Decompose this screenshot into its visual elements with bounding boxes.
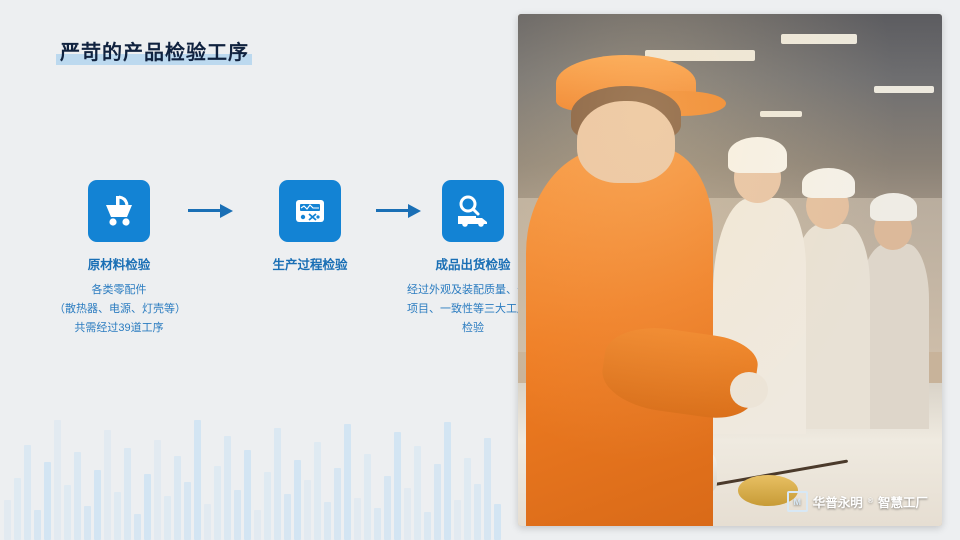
decorative-bar [344, 424, 351, 540]
brand-logo-icon: M [787, 491, 808, 512]
flow-step-1-label: 原材料检验 [54, 254, 184, 273]
flow-step-1-desc-line-1: 各类零配件 [54, 281, 184, 300]
decorative-bar [34, 510, 41, 540]
decorative-bar [174, 456, 181, 540]
decorative-bar [44, 462, 51, 540]
decorative-bar [334, 468, 341, 540]
decorative-bar [194, 420, 201, 540]
decorative-bar [84, 506, 91, 540]
mining-cart-icon [88, 180, 150, 242]
decorative-bar [384, 476, 391, 540]
decorative-bar [4, 500, 11, 540]
decorative-bar [274, 428, 281, 540]
decorative-bar [54, 420, 61, 540]
decorative-bar [154, 440, 161, 540]
truck-inspection-icon [442, 180, 504, 242]
decorative-bar [64, 485, 71, 540]
decorative-bar [264, 472, 271, 540]
decorative-bar [284, 494, 291, 540]
decorative-bar [244, 450, 251, 540]
flow-step-2[interactable]: 生产过程检验 [248, 180, 372, 273]
brand-watermark: M 华普永明®智慧工厂 [787, 491, 928, 512]
decorative-bar [294, 460, 301, 540]
decorative-bar [364, 454, 371, 540]
flow-step-1[interactable]: 原材料检验 各类零配件 （散热器、电源、灯壳等） 共需经过39道工序 [54, 180, 184, 338]
decorative-bar [414, 446, 421, 540]
decorative-bar [94, 470, 101, 540]
decorative-bar [204, 504, 211, 540]
decorative-bar [454, 500, 461, 540]
flow-arrow-1 [188, 204, 234, 218]
page-title: 严苛的产品检验工序 [56, 36, 253, 65]
decorative-bar [214, 466, 221, 540]
decorative-bar [74, 452, 81, 540]
decorative-bar [224, 436, 231, 540]
decorative-bar [434, 464, 441, 540]
brand-suffix: 智慧工厂 [878, 492, 928, 511]
decorative-bar-pattern [0, 390, 520, 540]
decorative-bar [134, 514, 141, 540]
decorative-bar [14, 478, 21, 540]
decorative-bar [314, 442, 321, 540]
decorative-bar [484, 438, 491, 540]
decorative-bar [354, 498, 361, 540]
decorative-bar [324, 502, 331, 540]
flow-step-1-desc: 各类零配件 （散热器、电源、灯壳等） 共需经过39道工序 [54, 281, 184, 338]
flow-step-1-desc-line-3: 共需经过39道工序 [54, 319, 184, 338]
decorative-bar [144, 474, 151, 540]
decorative-bar [114, 492, 121, 540]
decorative-bar [234, 490, 241, 540]
photo-light-tint [518, 14, 942, 526]
decorative-bar [304, 480, 311, 540]
factory-inspection-photo: M 华普永明®智慧工厂 [518, 14, 942, 526]
decorative-bar [424, 512, 431, 540]
decorative-bar [464, 458, 471, 540]
decorative-bar [404, 488, 411, 540]
decorative-bar [474, 484, 481, 540]
decorative-bar [254, 510, 261, 540]
decorative-bar [124, 448, 131, 540]
decorative-bar [184, 482, 191, 540]
flow-step-1-desc-line-2: （散热器、电源、灯壳等） [54, 300, 184, 319]
decorative-bar [494, 504, 501, 540]
brand-registered-mark: ® [868, 498, 873, 505]
decorative-bar [24, 445, 31, 540]
page-title-block: 严苛的产品检验工序 [56, 36, 253, 65]
decorative-bar [164, 496, 171, 540]
slide-root: 严苛的产品检验工序 原材料检验 各类零配件 （散热器、电源、灯壳等） 共需经过3… [0, 0, 960, 540]
flow-step-2-label: 生产过程检验 [248, 254, 372, 273]
decorative-bar [444, 422, 451, 540]
decorative-bar [374, 508, 381, 540]
brand-name: 华普永明 [813, 492, 863, 511]
test-instrument-icon [279, 180, 341, 242]
decorative-bar [394, 432, 401, 540]
decorative-bar [104, 430, 111, 540]
